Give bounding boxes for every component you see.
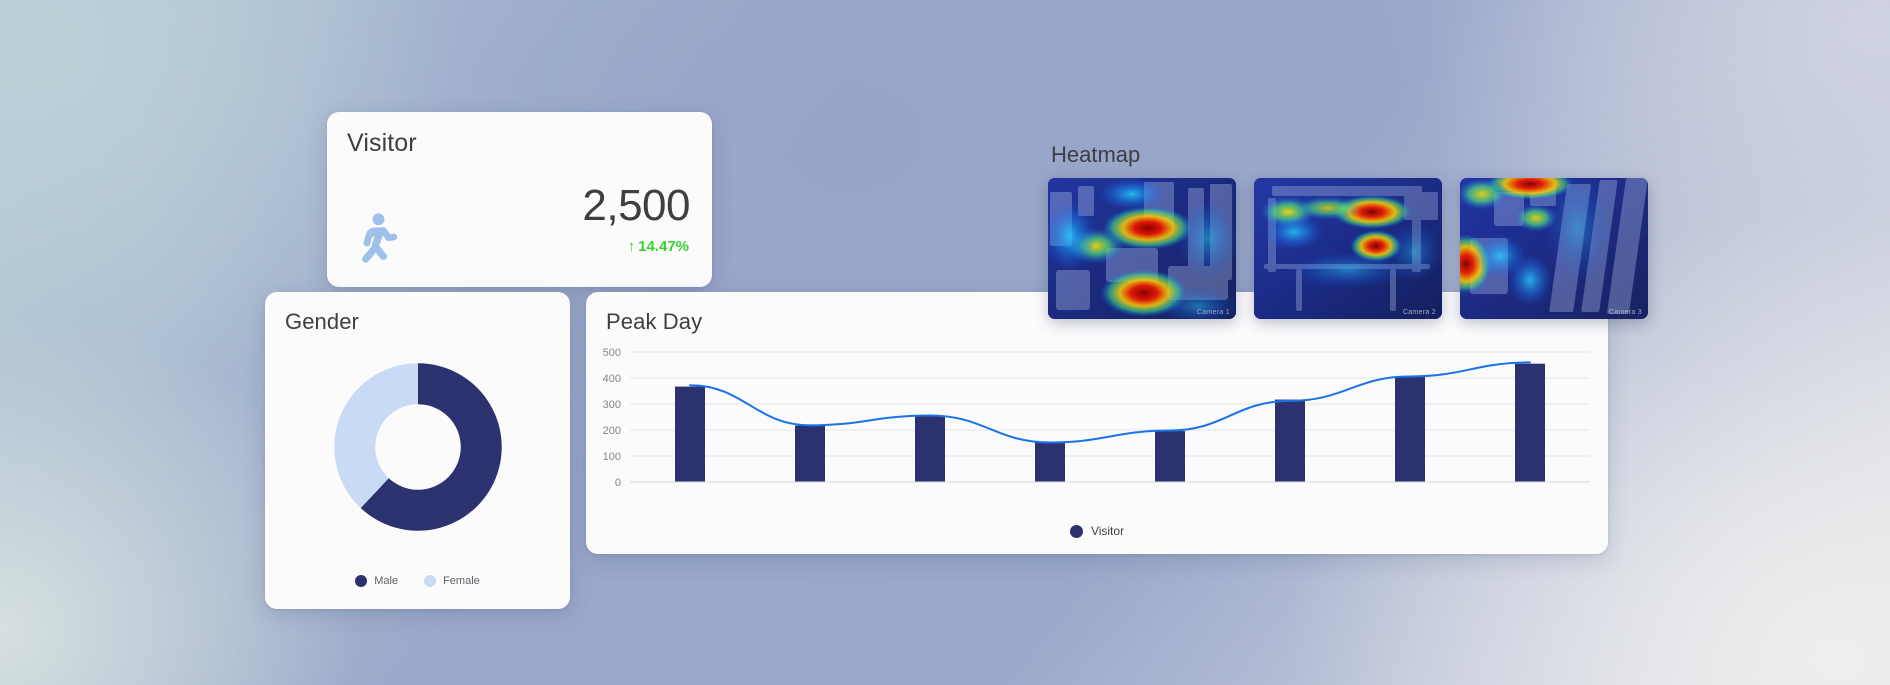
walking-person-icon [355, 212, 401, 266]
heatmap-thumb-3[interactable]: Camera 3 [1460, 178, 1648, 319]
visitor-card[interactable]: Visitor 2,500 ↑ 14.47% [327, 112, 712, 287]
gender-donut-chart[interactable] [327, 356, 509, 538]
legend-dot-visitor [1070, 525, 1083, 538]
arrow-up-icon: ↑ [628, 239, 636, 254]
legend-item-male[interactable]: Male [355, 575, 398, 587]
visitor-count-value: 2,500 [582, 184, 690, 228]
legend-label-male: Male [374, 575, 398, 587]
legend-label-female: Female [443, 575, 480, 587]
y-axis-tick-label: 500 [603, 347, 621, 359]
bar-6[interactable] [1275, 400, 1305, 482]
visitor-delta-badge: ↑ 14.47% [628, 238, 689, 255]
peak-day-legend: Visitor [586, 524, 1608, 538]
heatmap-thumb-1[interactable]: Camera 1 [1048, 178, 1236, 319]
donut-hole [375, 404, 461, 490]
bar-5[interactable] [1155, 431, 1185, 482]
y-axis-tick-label: 100 [603, 451, 621, 463]
bar-4[interactable] [1035, 442, 1065, 482]
y-axis-tick-label: 0 [615, 477, 621, 489]
camera-label-3: Camera 3 [1609, 309, 1642, 316]
y-axis-tick-label: 300 [603, 399, 621, 411]
peak-day-card[interactable]: Peak Day 0100200300400500 Visitor [586, 292, 1608, 554]
heatmap-thumbnail-list: Camera 1 [1048, 178, 1648, 319]
y-axis-tick-label: 400 [603, 373, 621, 385]
heatmap-section-title: Heatmap [1048, 142, 1648, 168]
visitor-card-title: Visitor [347, 129, 417, 158]
heatmap-section: Heatmap [1048, 142, 1648, 319]
heatmap-thumb-2[interactable]: Camera 2 [1254, 178, 1442, 319]
legend-dot-female [424, 575, 436, 587]
visitor-delta-value: 14.47% [638, 238, 689, 255]
heatmap-image-1: Camera 1 [1048, 178, 1236, 319]
donut-svg [327, 356, 509, 538]
heatmap-image-3: Camera 3 [1460, 178, 1648, 319]
camera-label-2: Camera 2 [1403, 309, 1436, 316]
bar-7[interactable] [1395, 377, 1425, 482]
bar-8[interactable] [1515, 364, 1545, 482]
bar-2[interactable] [795, 426, 825, 482]
gender-card-title: Gender [285, 309, 359, 335]
gender-card[interactable]: Gender Male Female [265, 292, 570, 609]
peak-day-card-title: Peak Day [606, 309, 702, 335]
dashboard-stage: Visitor 2,500 ↑ 14.47% Gender [0, 0, 1890, 685]
gender-legend: Male Female [265, 575, 570, 587]
legend-dot-male [355, 575, 367, 587]
legend-item-female[interactable]: Female [424, 575, 480, 587]
legend-label-visitor: Visitor [1091, 524, 1124, 538]
camera-label-1: Camera 1 [1197, 309, 1230, 316]
peak-day-chart-svg: 0100200300400500 [586, 344, 1608, 504]
bar-1[interactable] [675, 387, 705, 482]
bar-3[interactable] [915, 416, 945, 482]
y-axis-tick-label: 200 [603, 425, 621, 437]
peak-day-chart[interactable]: 0100200300400500 [586, 344, 1608, 504]
heatmap-image-2: Camera 2 [1254, 178, 1442, 319]
